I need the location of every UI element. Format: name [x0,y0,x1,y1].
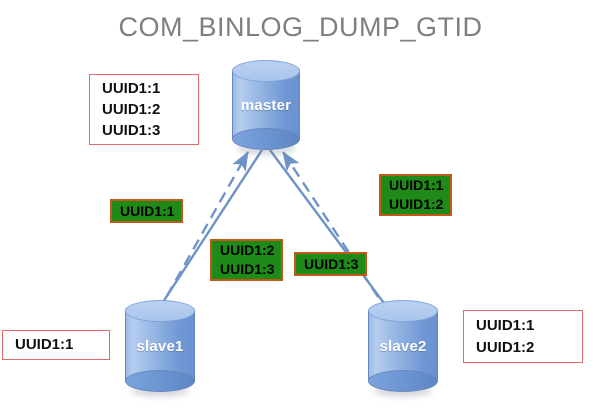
gtid-label-slave2-request: UUID1:1 UUID1:2 [379,174,452,216]
note-line: UUID1:1 [476,315,570,336]
gtid-line: UUID1:2 [220,241,273,260]
gtid-label-master-to-slave1: UUID1:2 UUID1:3 [210,239,283,281]
note-line: UUID1:1 [15,334,97,355]
edge-master-to-slave1 [150,150,262,322]
note-box-master: UUID1:1 UUID1:2 UUID1:3 [89,74,199,145]
node-master[interactable]: master [232,60,300,150]
node-slave2-label: slave2 [368,300,438,392]
note-box-slave2: UUID1:1 UUID1:2 [463,310,583,363]
node-slave1[interactable]: slave1 [125,300,195,392]
node-master-label: master [232,60,300,150]
node-slave1-label: slave1 [125,300,195,392]
gtid-line: UUID1:1 [389,176,442,195]
gtid-line: UUID1:2 [389,195,442,214]
gtid-label-slave1-request: UUID1:1 [110,199,183,223]
node-slave2[interactable]: slave2 [368,300,438,392]
note-line: UUID1:3 [102,120,186,141]
note-box-slave1: UUID1:1 [2,330,110,360]
note-line: UUID1:2 [102,99,186,120]
gtid-line: UUID1:3 [220,260,273,279]
gtid-line: UUID1:3 [304,255,357,274]
note-line: UUID1:2 [476,337,570,358]
diagram-canvas: COM_BINLOG_DUMP_GTID master slave1 [0,0,601,415]
gtid-line: UUID1:1 [120,202,173,221]
gtid-label-master-to-slave2: UUID1:3 [294,252,367,276]
note-line: UUID1:1 [102,78,186,99]
